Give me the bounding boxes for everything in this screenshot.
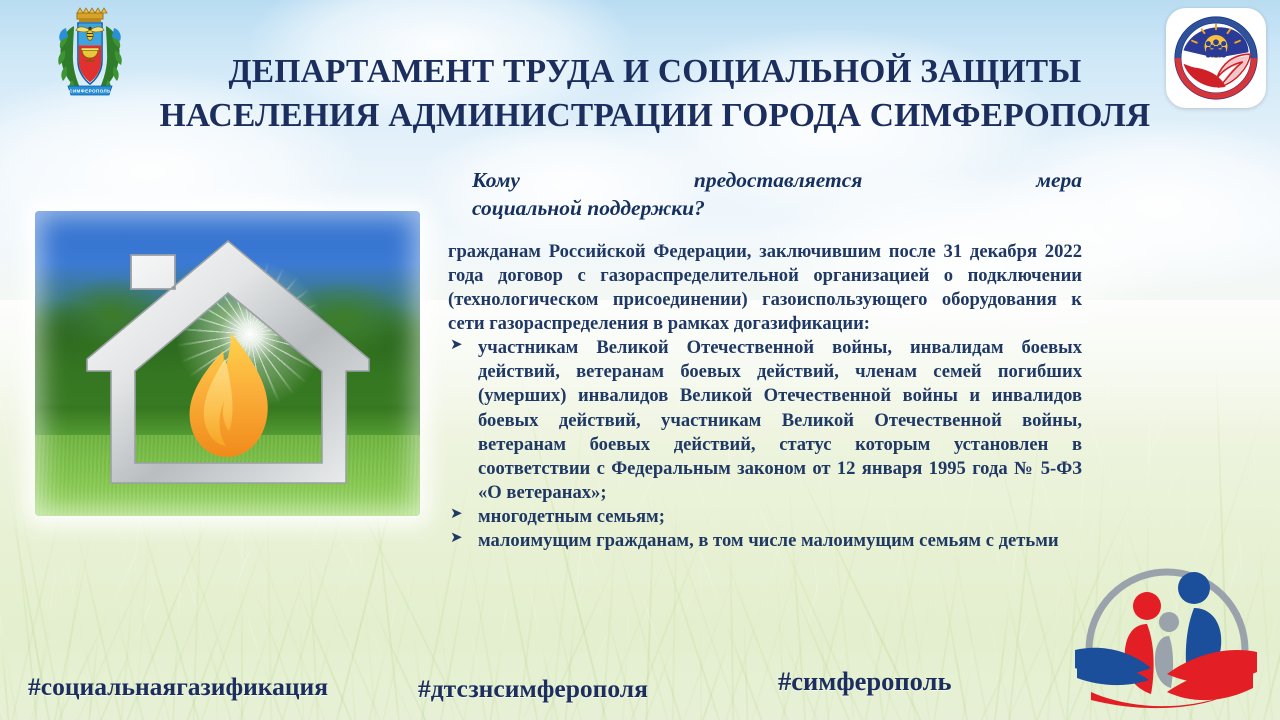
coat-of-arms-motto: СИМФЕРОПОЛЬ [69,89,111,94]
department-emblem-icon [1172,14,1260,102]
hashtag-dtszn-simferopol: #дтсзнсимферополя [418,674,648,704]
hashtag-simferopol: #симферополь [778,666,951,697]
intro-paragraph: гражданам Российской Федерации, заключив… [448,240,1082,336]
bullet-arrow-icon: ➤ [450,528,463,547]
hashtag-social-gasification: #социальнаягазификация [28,672,328,702]
house-with-gas-flame-image [35,211,420,516]
title-line-2: НАСЕЛЕНИЯ АДМИНИСТРАЦИИ ГОРОДА СИМФЕРОПО… [150,94,1160,138]
title-line-1: ДЕПАРТАМЕНТ ТРУДА И СОЦИАЛЬНОЙ ЗАЩИТЫ [150,50,1160,94]
bullet-arrow-icon: ➤ [450,504,463,523]
page-title: ДЕПАРТАМЕНТ ТРУДА И СОЦИАЛЬНОЙ ЗАЩИТЫ НА… [150,50,1160,137]
eligibility-item: ➤малоимущим гражданам, в том числе малои… [448,529,1082,553]
eligibility-item-text: участникам Великой Отечественной войны, … [478,337,1082,502]
content-column: гражданам Российской Федерации, заключив… [448,240,1082,553]
poster-canvas: СИМФЕРОПОЛЬ [0,0,1280,720]
department-emblem-badge [1166,8,1266,108]
question-heading: Кому предоставляется мера социальной под… [472,166,1082,223]
eligibility-item: ➤участникам Великой Отечественной войны,… [448,336,1082,505]
house-outline-icon [35,211,420,516]
eligibility-item-text: многодетным семьям; [478,506,665,527]
bullet-arrow-icon: ➤ [450,335,463,354]
simferopol-coat-of-arms-icon: СИМФЕРОПОЛЬ [52,6,128,104]
eligibility-item: ➤многодетным семьям; [448,505,1082,529]
question-line-2: социальной поддержки? [472,194,1082,222]
eligibility-item-text: малоимущим гражданам, в том числе малоим… [478,530,1059,551]
question-line-1: Кому предоставляется мера [472,166,1082,194]
hashtag-row: #социальнаягазификация #дтсзнсимферополя… [0,666,1280,712]
eligibility-list: ➤участникам Великой Отечественной войны,… [448,336,1082,553]
